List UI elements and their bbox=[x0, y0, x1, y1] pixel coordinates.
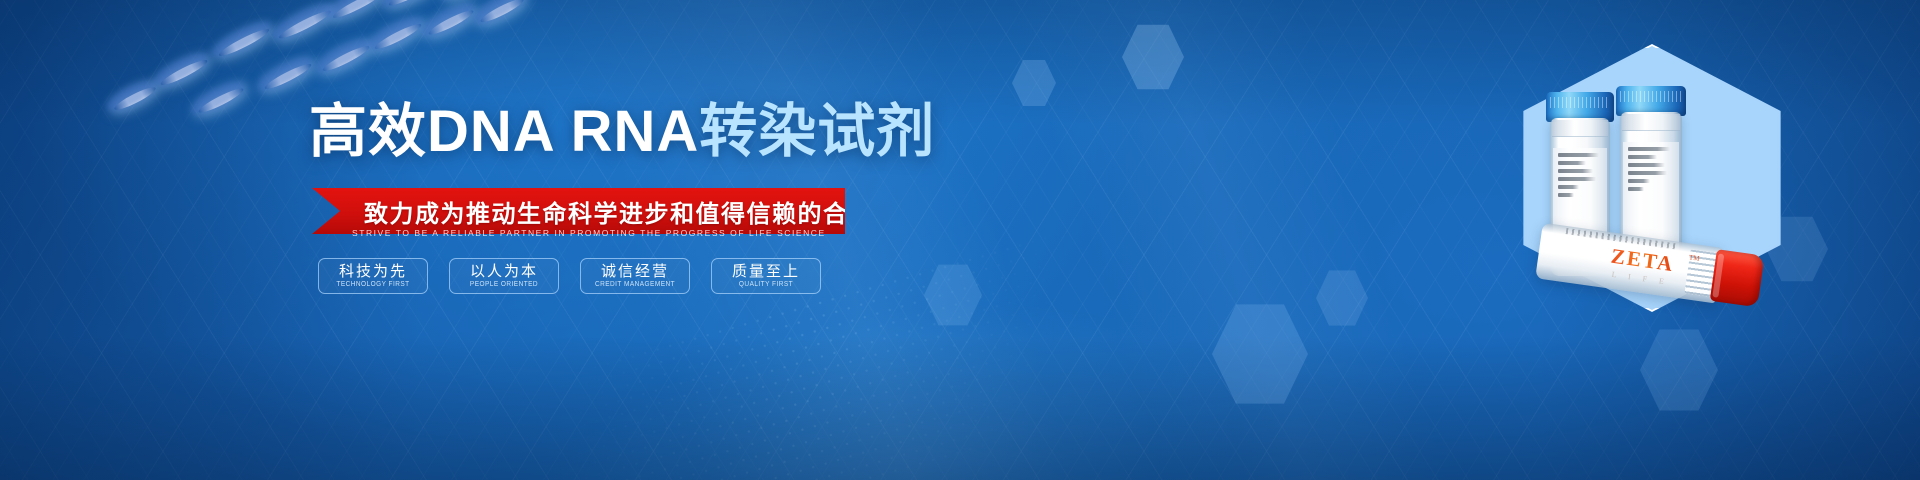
badge-label-en: PEOPLE ORIENTED bbox=[470, 281, 538, 289]
vial-neck bbox=[1552, 120, 1608, 137]
vial-neck bbox=[1622, 114, 1680, 131]
badge-people-oriented[interactable]: 以人为本 PEOPLE ORIENTED bbox=[449, 258, 559, 294]
page-title: 高效DNA RNA转染试剂 bbox=[309, 102, 935, 163]
banner-content: 高效DNA RNA转染试剂 致力成为推动生命科学进步和值得信赖的合作者 STRI… bbox=[0, 0, 1000, 480]
badge-label-cn: 科技为先 bbox=[339, 264, 407, 280]
headline-segment-2: DNA RNA bbox=[427, 99, 699, 164]
badge-quality-first[interactable]: 质量至上 QUALITY FIRST bbox=[711, 258, 821, 294]
headline-segment-1: 高效 bbox=[309, 99, 427, 164]
tagline-text: 致力成为推动生命科学进步和值得信赖的合作者 bbox=[364, 194, 900, 229]
product-stage: ZETA TM L I F E bbox=[1220, 0, 1920, 480]
badge-label-en: TECHNOLOGY FIRST bbox=[336, 281, 409, 289]
badge-label-en: CREDIT MANAGEMENT bbox=[595, 281, 675, 289]
promo-banner: ZETA TM L I F E 高效DNA RNA转染试剂 致力成为推动生命科学… bbox=[0, 0, 1920, 480]
badge-credit-management[interactable]: 诚信经营 CREDIT MANAGEMENT bbox=[580, 258, 690, 294]
badge-label-cn: 以人为本 bbox=[470, 264, 538, 280]
trademark-symbol: TM bbox=[1689, 253, 1701, 262]
tagline-subtitle: STRIVE TO BE A RELIABLE PARTNER IN PROMO… bbox=[352, 228, 822, 238]
value-badge-list: 科技为先 TECHNOLOGY FIRST 以人为本 PEOPLE ORIENT… bbox=[318, 258, 821, 294]
badge-label-en: QUALITY FIRST bbox=[739, 281, 793, 289]
badge-label-cn: 诚信经营 bbox=[601, 264, 669, 280]
badge-label-cn: 质量至上 bbox=[732, 264, 800, 280]
tube-cap-red bbox=[1710, 249, 1765, 307]
badge-technology-first[interactable]: 科技为先 TECHNOLOGY FIRST bbox=[318, 258, 428, 294]
headline-segment-3: 转染试剂 bbox=[699, 99, 935, 164]
